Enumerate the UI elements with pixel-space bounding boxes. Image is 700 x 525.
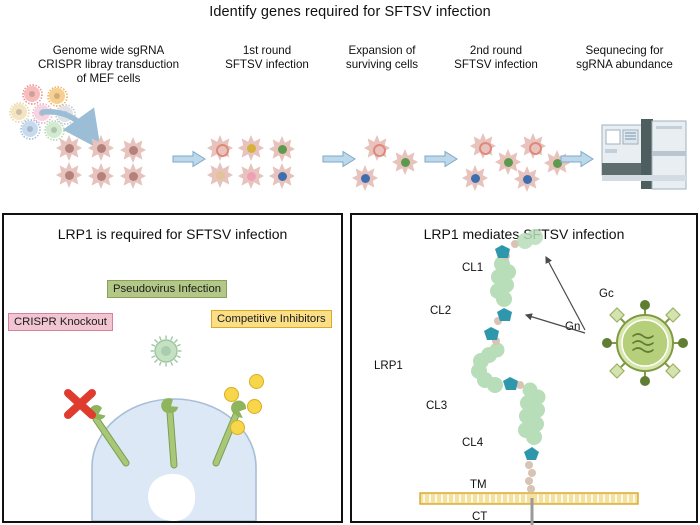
competitive-inhibitor (247, 399, 262, 414)
cl2-domain (490, 256, 516, 307)
cell-group-untransduced (56, 135, 166, 197)
lentivirus-particle (22, 121, 38, 137)
pseudovirus-particle-icon (150, 335, 182, 367)
mef-cell (462, 165, 488, 191)
cell-group-expanded (462, 133, 572, 199)
cl2-lower-domain (484, 308, 512, 340)
figure-title: Identify genes required for SFTSV infect… (0, 4, 700, 20)
mef-cell (269, 163, 295, 189)
mef-cell (120, 137, 146, 163)
mef-cell (56, 162, 82, 188)
dna-sequencer-icon (598, 113, 690, 197)
competitive-inhibitor (249, 374, 264, 389)
lentivirus-particle (49, 88, 65, 104)
mef-cell (88, 135, 114, 161)
mef-cell (392, 149, 418, 175)
tm-linker-beads (525, 461, 536, 493)
mef-cell (238, 163, 264, 189)
workflow-panel: Identify genes required for SFTSV infect… (0, 0, 700, 208)
mef-cell (470, 133, 496, 159)
red-x-icon (68, 393, 92, 415)
mef-cell (56, 135, 82, 161)
cell-group-transduced (207, 135, 317, 197)
mef-cell (520, 133, 546, 159)
stage-arrow-icon (322, 150, 356, 168)
gn-binding-arrows (526, 257, 585, 333)
mef-cell (120, 163, 146, 189)
workflow-step-label-library: Genome wide sgRNACRISPR libray transduct… (6, 44, 211, 87)
cell-group-survivors-round1 (352, 135, 424, 197)
mef-cell (207, 162, 233, 188)
mef-cell (238, 135, 264, 161)
mef-cell (352, 165, 378, 191)
mef-cell (514, 166, 540, 192)
lentivirus-particle (11, 104, 27, 120)
stage-arrow-icon (172, 150, 206, 168)
mef-cell (364, 135, 390, 161)
mef-cell (207, 135, 233, 161)
mef-cell (88, 163, 114, 189)
workflow-step-label-round1: 1st roundSFTSV infection (208, 44, 326, 72)
stage-arrow-icon (424, 150, 458, 168)
cl1-domain (495, 229, 543, 258)
stage-arrow-icon (560, 150, 594, 168)
lentivirus-particle (24, 86, 40, 102)
plasma-membrane (420, 493, 638, 504)
competitive-inhibitor (230, 420, 245, 435)
panel-lrp1-mediates: LRP1 mediates SFTSV infection CL1 CL2 LR… (350, 213, 698, 523)
workflow-step-label-expansion: Expansion ofsurviving cells (322, 44, 442, 72)
host-cell-diagram (4, 215, 341, 521)
cl3-domain (471, 337, 518, 393)
workflow-step-label-sequencing: Sequnecing forsgRNA abundance (552, 44, 697, 72)
mef-cell (269, 136, 295, 162)
panel-lrp1-required: LRP1 is required for SFTSV infection CRI… (2, 213, 343, 523)
figure-root: Identify genes required for SFTSV infect… (0, 0, 700, 525)
workflow-step-label-round2: 2nd roundSFTSV infection (437, 44, 555, 72)
cl4-domain (516, 381, 546, 460)
sftsv-virion-icon (602, 300, 688, 386)
competitive-inhibitor (224, 387, 239, 402)
